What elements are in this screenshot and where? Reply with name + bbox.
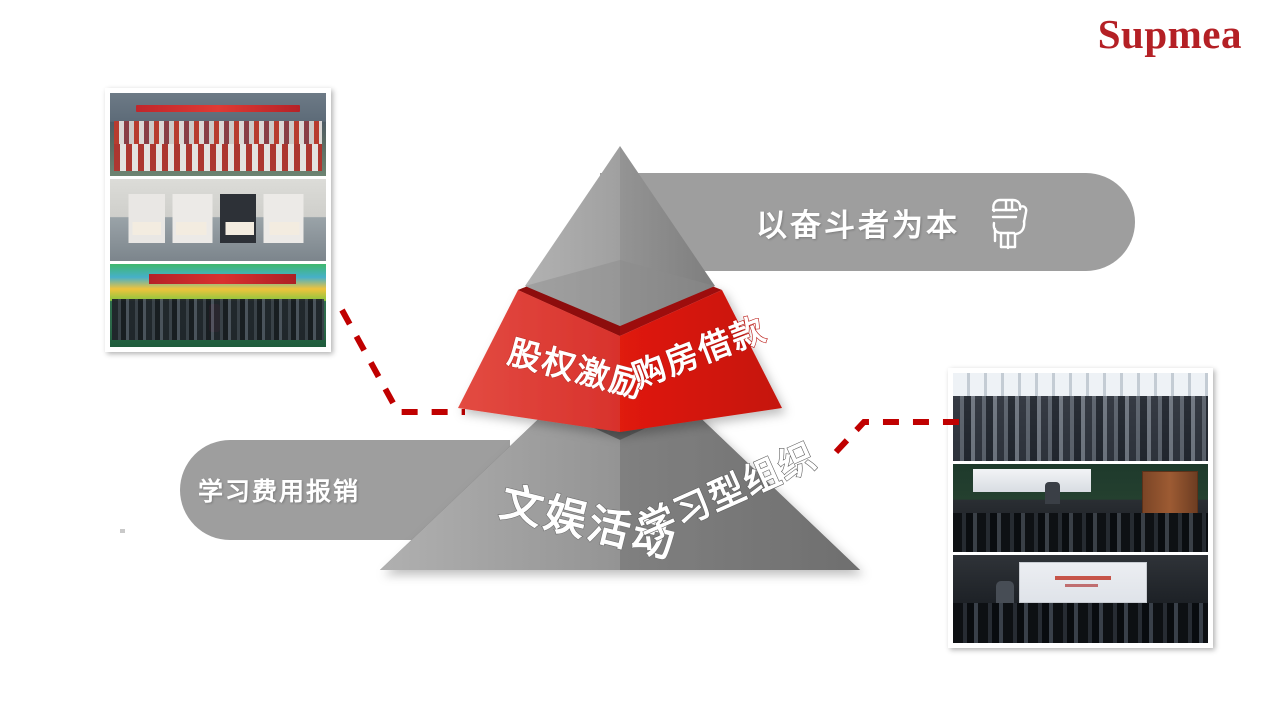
photo-team-group	[110, 93, 326, 176]
brand-logo: Supmea	[1098, 14, 1242, 55]
pyramid-diagram: 文娱活动 学习型组织 股权激励 购房借款	[370, 140, 890, 580]
right-photo-collage	[948, 368, 1213, 648]
presenter-shape	[996, 581, 1014, 606]
photo-computer-training-room	[953, 373, 1208, 461]
door-shape	[1142, 471, 1198, 517]
photo-training-session	[953, 555, 1208, 643]
crowd-highlight	[209, 304, 220, 332]
slide-title-shape	[1055, 576, 1111, 580]
banner-left-label: 学习费用报销	[198, 472, 360, 508]
speaker-shape	[1045, 482, 1060, 505]
raised-fist-icon	[982, 189, 1030, 255]
background-speck	[120, 529, 125, 533]
slide-subtitle-shape	[1065, 584, 1098, 587]
photo-award-ceremony	[110, 179, 326, 262]
left-photo-collage	[105, 88, 331, 352]
photo-sports-day	[110, 264, 326, 347]
photo-lecture-hall	[953, 464, 1208, 552]
